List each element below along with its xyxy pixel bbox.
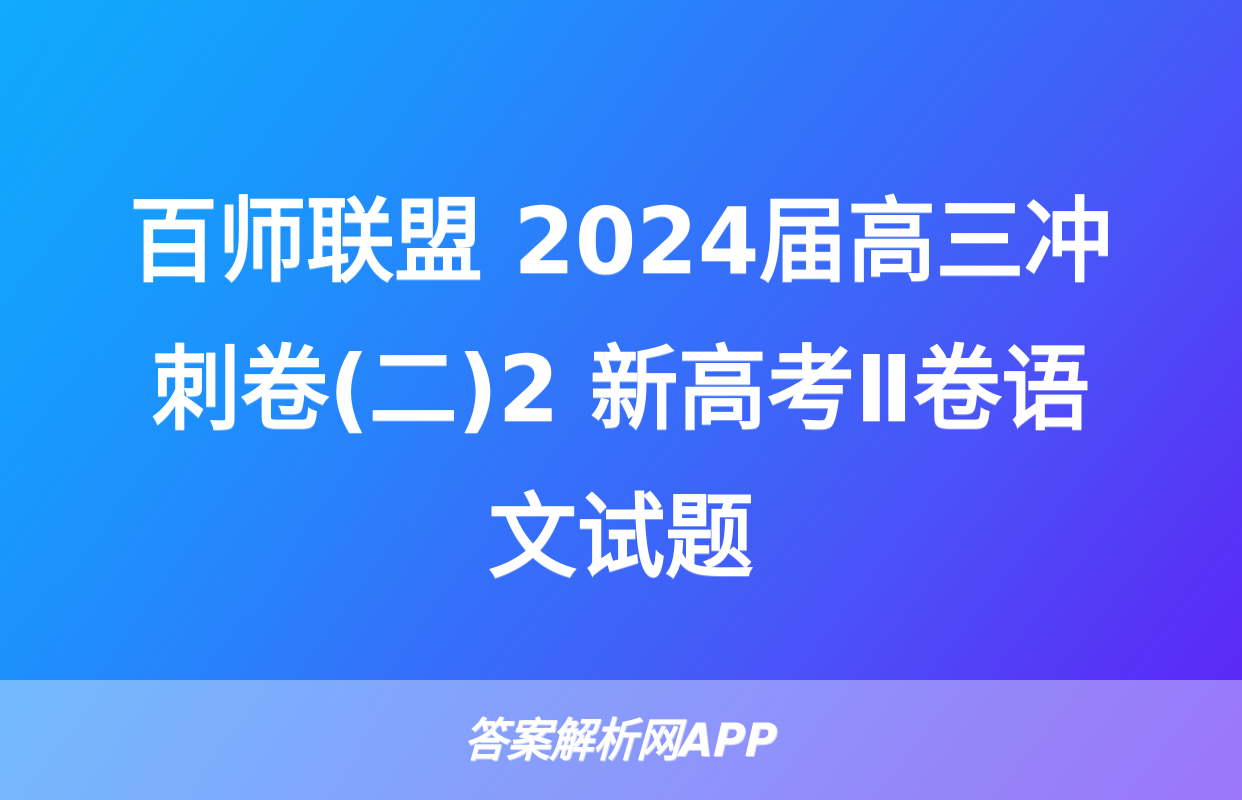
- title-line-1: 百师联盟 2024届高三冲: [81, 168, 1162, 316]
- footer-watermark-band: 答案解析网APP: [0, 680, 1242, 800]
- exam-cover-card: 百师联盟 2024届高三冲 刺卷(二)2 新高考Ⅱ卷语 文试题 答案解析网APP: [0, 0, 1242, 800]
- title-line-2: 刺卷(二)2 新高考Ⅱ卷语: [81, 316, 1162, 464]
- title-line-3: 文试题: [81, 464, 1162, 612]
- cover-title: 百师联盟 2024届高三冲 刺卷(二)2 新高考Ⅱ卷语 文试题: [0, 168, 1242, 612]
- app-watermark-label: 答案解析网APP: [463, 717, 778, 763]
